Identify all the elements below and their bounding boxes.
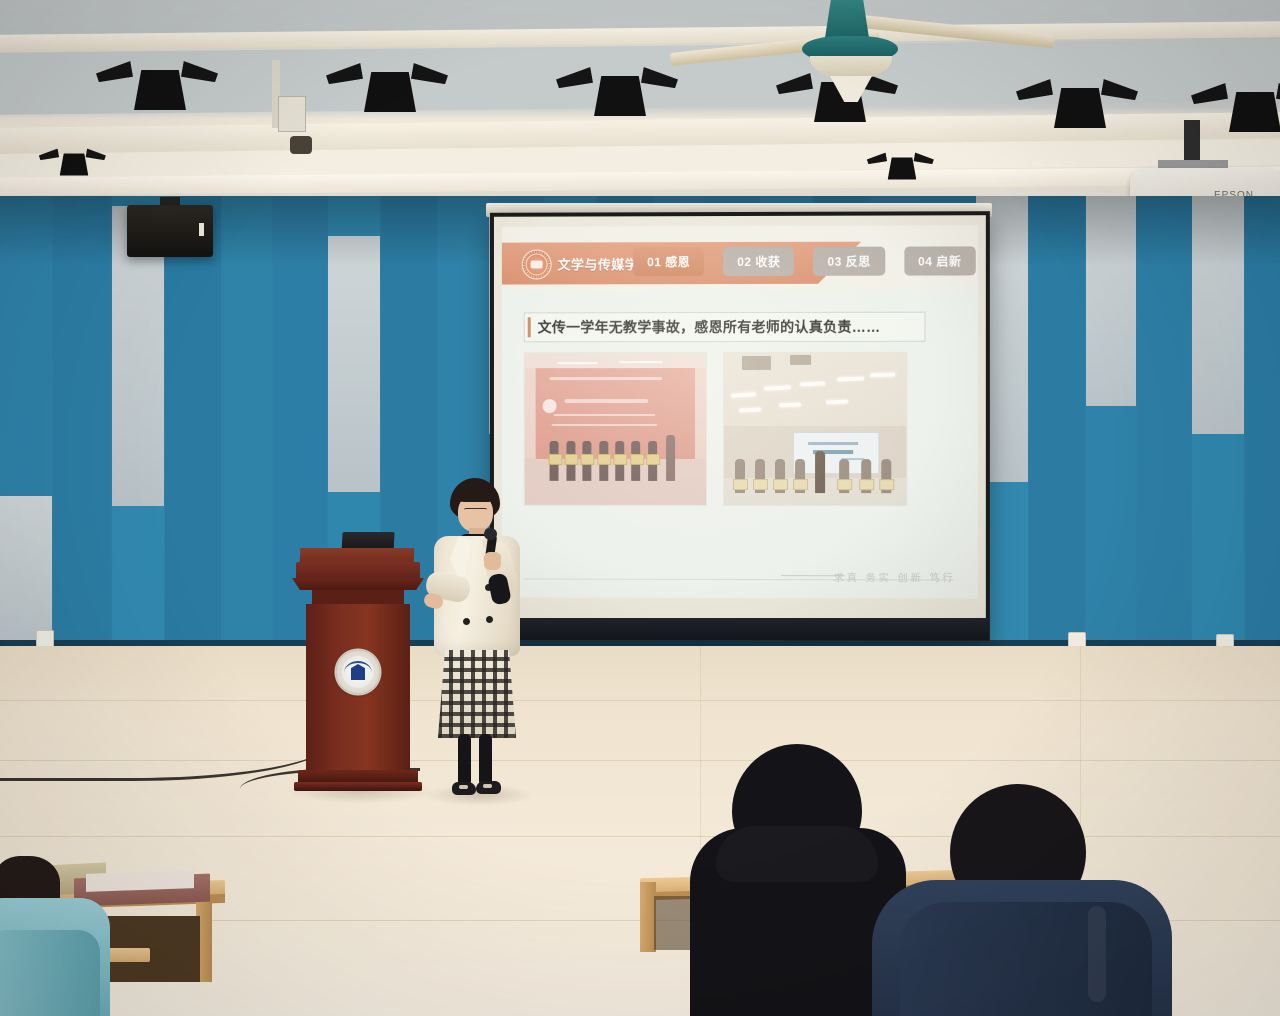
slide-tab-03[interactable]: 03 反思 <box>813 247 884 276</box>
presenter-coat-button <box>463 618 470 625</box>
microphone-head <box>484 528 497 540</box>
slide-title-box: 文传一学年无教学事故，感恩所有老师的认真负责…… <box>524 312 926 343</box>
slide-footer-text: 求真 务实 创新 笃行 <box>834 569 956 584</box>
slide-photo-2 <box>723 352 907 506</box>
security-camera <box>290 136 312 154</box>
slide-tab-04[interactable]: 04 启新 <box>904 246 976 275</box>
projection-screen-bottom-bar <box>489 618 989 640</box>
presenter-leg-left <box>458 734 471 786</box>
podium-lip <box>292 578 424 590</box>
presenter-glasses <box>464 508 487 516</box>
projection-surface: 文学与传媒学院 01 感恩 02 收获 03 反思 04 启新 文传一学年无教学… <box>494 215 986 622</box>
slide-title-accent-bar <box>528 317 531 337</box>
projection-screen: 文学与传媒学院 01 感恩 02 收获 03 反思 04 启新 文传一学年无教学… <box>490 211 990 641</box>
presenter-shoe-left <box>452 782 476 795</box>
presenter-skirt <box>438 650 516 738</box>
wall-panel <box>0 196 52 656</box>
slide-photo-1 <box>524 352 707 506</box>
presenter-hand-right <box>484 552 501 570</box>
audience-right-body <box>900 902 1152 1016</box>
audience-right-jacket-seam <box>1088 906 1106 1002</box>
slide-header: 文学与传媒学院 01 感恩 02 收获 03 反思 04 启新 <box>502 241 978 284</box>
slide-tab-nav: 01 感恩 02 收获 03 反思 04 启新 <box>633 246 975 276</box>
presenter-shoe-right <box>476 781 501 794</box>
ceiling-outlet-box <box>278 96 306 132</box>
podium-neck <box>312 590 404 604</box>
wall-panel <box>1137 196 1191 656</box>
slide-tab-02[interactable]: 02 收获 <box>723 247 794 276</box>
wall-panel <box>1029 196 1085 656</box>
university-crest-emblem <box>336 650 380 694</box>
presenter-leg-right <box>479 734 492 786</box>
podium-top <box>296 562 420 580</box>
audience-center-hood <box>716 826 878 882</box>
floor-seam <box>0 836 1280 837</box>
wall-panel <box>222 196 272 656</box>
audience-left-body <box>0 930 100 1016</box>
presenter-coat-button <box>486 616 493 623</box>
paper-in-folder <box>86 870 194 892</box>
wall-panel <box>1245 196 1280 656</box>
lecture-hall-photo: EPSON <box>0 0 1280 1016</box>
podium <box>296 562 420 794</box>
university-seal-logo <box>522 249 552 279</box>
presenter <box>424 478 530 810</box>
wall-panel <box>1086 196 1136 656</box>
wall-panel <box>112 196 164 656</box>
slide-tab-01[interactable]: 01 感恩 <box>633 247 704 276</box>
floor-seam <box>0 700 1280 701</box>
presentation-slide: 文学与传媒学院 01 感恩 02 收获 03 反思 04 启新 文传一学年无教学… <box>502 225 978 598</box>
wall-speaker <box>127 205 213 257</box>
podium-plinth <box>294 782 422 791</box>
speaker-led <box>199 223 204 236</box>
wall-panel <box>53 196 111 656</box>
wall-panel <box>165 196 221 656</box>
slide-title: 文传一学年无教学事故，感恩所有老师的认真负责…… <box>538 317 881 337</box>
slide-body: 文传一学年无教学事故，感恩所有老师的认真负责…… <box>502 290 978 599</box>
ceiling-fan <box>690 0 1030 134</box>
wall-panel <box>1192 196 1244 656</box>
